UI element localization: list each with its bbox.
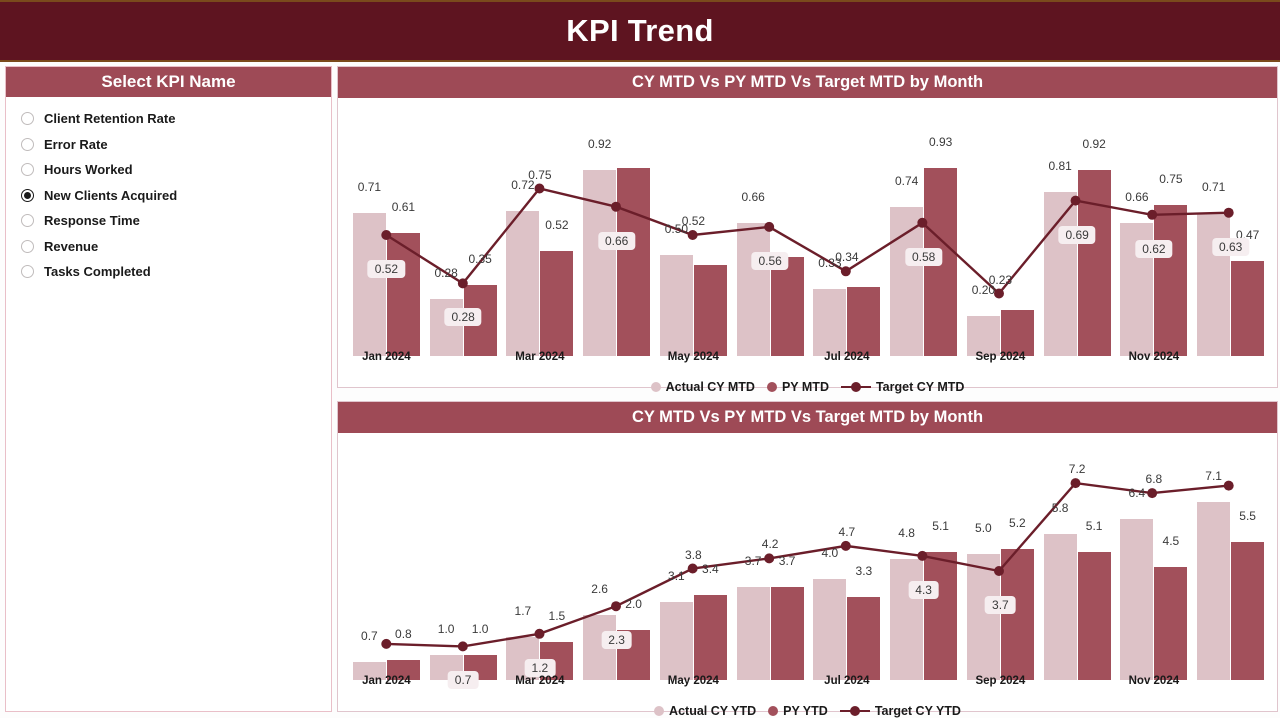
legend-dot-icon (768, 706, 778, 716)
axis-tick-label: Mar 2024 (515, 675, 564, 687)
legend-dot-icon (654, 706, 664, 716)
axis-tick-label: May 2024 (668, 675, 719, 687)
slicer-item-label: New Clients Acquired (44, 188, 177, 203)
slicer-item-new-clients-acquired[interactable]: New Clients Acquired (6, 183, 331, 209)
bar-group[interactable] (583, 441, 650, 680)
axis-tick-label: Nov 2024 (1129, 675, 1180, 687)
bar-actual[interactable] (583, 615, 616, 680)
bar-group[interactable] (660, 106, 727, 356)
legend-label: Actual CY MTD (666, 380, 755, 394)
slicer-title: Select KPI Name (101, 72, 235, 92)
bar-py[interactable] (617, 168, 650, 356)
chart-card-mtd: CY MTD Vs PY MTD Vs Target MTD by Month … (337, 66, 1278, 388)
bar-group[interactable] (1197, 106, 1264, 356)
chart-title-mtd: CY MTD Vs PY MTD Vs Target MTD by Month (632, 73, 983, 92)
bar-group[interactable] (583, 106, 650, 356)
bars-layer-mtd (338, 98, 1277, 348)
bar-group[interactable] (506, 441, 573, 680)
legend-mtd: Actual CY MTDPY MTDTarget CY MTD (338, 374, 1277, 400)
bar-group[interactable] (1120, 106, 1187, 356)
legend-line-marker-icon (841, 382, 871, 392)
chart-title-ytd: CY MTD Vs PY MTD Vs Target MTD by Month (632, 408, 983, 427)
slicer-item-tasks-completed[interactable]: Tasks Completed (6, 259, 331, 285)
slicer-item-label: Response Time (44, 213, 140, 228)
kpi-radio-group: Client Retention RateError RateHours Wor… (6, 97, 331, 285)
bar-actual[interactable] (660, 602, 693, 680)
bar-actual[interactable] (583, 170, 616, 356)
bar-group[interactable] (353, 106, 420, 356)
legend-label: Target CY YTD (875, 704, 961, 718)
x-axis-ytd: Jan 2024Mar 2024May 2024Jul 2024Sep 2024… (338, 672, 1277, 698)
bar-py[interactable] (1231, 261, 1264, 356)
bar-py[interactable] (924, 552, 957, 680)
slicer-item-hours-worked[interactable]: Hours Worked (6, 157, 331, 183)
legend-label: PY YTD (783, 704, 828, 718)
bar-py[interactable] (464, 285, 497, 356)
bar-group[interactable] (353, 441, 420, 680)
axis-tick-label: Jan 2024 (362, 351, 411, 363)
axis-tick-label: Jul 2024 (824, 675, 869, 687)
legend-label: Actual CY YTD (669, 704, 756, 718)
dashboard-root: KPI Trend Select KPI Name Client Retenti… (0, 0, 1280, 718)
legend-item[interactable]: PY YTD (768, 704, 828, 718)
bar-py[interactable] (694, 265, 727, 356)
bar-py[interactable] (847, 597, 880, 680)
radio-unselected-icon[interactable] (21, 265, 34, 278)
slicer-item-revenue[interactable]: Revenue (6, 234, 331, 260)
axis-tick-label: Sep 2024 (975, 351, 1025, 363)
radio-unselected-icon[interactable] (21, 138, 34, 151)
bar-actual[interactable] (737, 587, 770, 680)
bar-group[interactable] (1197, 441, 1264, 680)
bar-actual[interactable] (1044, 534, 1077, 680)
slicer-item-label: Revenue (44, 239, 98, 254)
legend-label: PY MTD (782, 380, 829, 394)
bar-py[interactable] (1078, 552, 1111, 680)
bar-actual[interactable] (1197, 502, 1230, 680)
legend-dot-icon (651, 382, 661, 392)
legend-item[interactable]: Target CY YTD (840, 704, 961, 718)
bar-actual[interactable] (506, 211, 539, 356)
bar-group[interactable] (890, 441, 957, 680)
bar-actual[interactable] (1120, 223, 1153, 356)
x-axis-mtd: Jan 2024Mar 2024May 2024Jul 2024Sep 2024… (338, 348, 1277, 374)
bar-py[interactable] (540, 251, 573, 356)
axis-tick-label: May 2024 (668, 351, 719, 363)
axis-tick-label: Sep 2024 (975, 675, 1025, 687)
bar-group[interactable] (506, 106, 573, 356)
bar-py[interactable] (924, 168, 957, 356)
radio-selected-icon[interactable] (21, 189, 34, 202)
bar-py[interactable] (1231, 542, 1264, 680)
bar-py[interactable] (1001, 549, 1034, 680)
bar-group[interactable] (737, 441, 804, 680)
bar-group[interactable] (813, 106, 880, 356)
axis-tick-label: Nov 2024 (1129, 351, 1180, 363)
bar-py[interactable] (694, 595, 727, 680)
bar-group[interactable] (1044, 106, 1111, 356)
bar-actual[interactable] (967, 554, 1000, 680)
slicer-item-label: Error Rate (44, 137, 108, 152)
page-title: KPI Trend (566, 13, 713, 49)
legend-item[interactable]: PY MTD (767, 380, 829, 394)
bar-actual[interactable] (353, 213, 386, 356)
bars-layer-ytd (338, 433, 1277, 672)
bar-group[interactable] (1044, 441, 1111, 680)
radio-unselected-icon[interactable] (21, 240, 34, 253)
bar-actual[interactable] (813, 289, 846, 356)
page-header: KPI Trend (0, 0, 1280, 62)
chart-header-mtd: CY MTD Vs PY MTD Vs Target MTD by Month (338, 67, 1277, 98)
slicer-item-label: Client Retention Rate (44, 111, 175, 126)
bar-group[interactable] (660, 441, 727, 680)
kpi-slicer-panel: Select KPI Name Client Retention RateErr… (5, 66, 332, 712)
bar-py[interactable] (1154, 567, 1187, 680)
slicer-item-error-rate[interactable]: Error Rate (6, 132, 331, 158)
bar-py[interactable] (387, 233, 420, 356)
radio-unselected-icon[interactable] (21, 163, 34, 176)
slicer-item-client-retention-rate[interactable]: Client Retention Rate (6, 106, 331, 132)
bar-group[interactable] (890, 106, 957, 356)
bar-py[interactable] (847, 287, 880, 356)
bar-actual[interactable] (890, 207, 923, 356)
bar-actual[interactable] (1120, 519, 1153, 680)
bar-group[interactable] (813, 441, 880, 680)
slicer-item-response-time[interactable]: Response Time (6, 208, 331, 234)
bar-group[interactable] (430, 441, 497, 680)
slicer-item-label: Hours Worked (44, 162, 133, 177)
bar-actual[interactable] (660, 255, 693, 356)
axis-tick-label: Jan 2024 (362, 675, 411, 687)
bar-actual[interactable] (1044, 192, 1077, 356)
radio-unselected-icon[interactable] (21, 214, 34, 227)
bar-actual[interactable] (813, 579, 846, 680)
bar-actual[interactable] (1197, 213, 1230, 356)
bar-py[interactable] (1154, 205, 1187, 357)
plot-area-mtd: 0.710.610.280.350.720.520.920.500.660.33… (338, 98, 1277, 348)
bar-group[interactable] (967, 106, 1034, 356)
bar-group[interactable] (967, 441, 1034, 680)
bar-group[interactable] (1120, 441, 1187, 680)
legend-item[interactable]: Actual CY MTD (651, 380, 755, 394)
bar-actual[interactable] (737, 223, 770, 356)
slicer-header: Select KPI Name (6, 67, 331, 97)
axis-tick-label: Mar 2024 (515, 351, 564, 363)
slicer-item-label: Tasks Completed (44, 264, 151, 279)
plot-area-ytd: 0.70.81.01.01.71.52.62.03.13.43.73.74.03… (338, 433, 1277, 672)
legend-line-marker-icon (840, 706, 870, 716)
chart-card-ytd: CY MTD Vs PY MTD Vs Target MTD by Month … (337, 401, 1278, 712)
bar-py[interactable] (1078, 170, 1111, 356)
legend-ytd: Actual CY YTDPY YTDTarget CY YTD (338, 698, 1277, 718)
legend-label: Target CY MTD (876, 380, 964, 394)
bar-group[interactable] (430, 106, 497, 356)
legend-item[interactable]: Target CY MTD (841, 380, 964, 394)
bar-py[interactable] (771, 257, 804, 356)
radio-unselected-icon[interactable] (21, 112, 34, 125)
axis-tick-label: Jul 2024 (824, 351, 869, 363)
bar-actual[interactable] (890, 559, 923, 680)
legend-dot-icon (767, 382, 777, 392)
chart-header-ytd: CY MTD Vs PY MTD Vs Target MTD by Month (338, 402, 1277, 433)
bar-py[interactable] (771, 587, 804, 680)
legend-item[interactable]: Actual CY YTD (654, 704, 756, 718)
bar-group[interactable] (737, 106, 804, 356)
